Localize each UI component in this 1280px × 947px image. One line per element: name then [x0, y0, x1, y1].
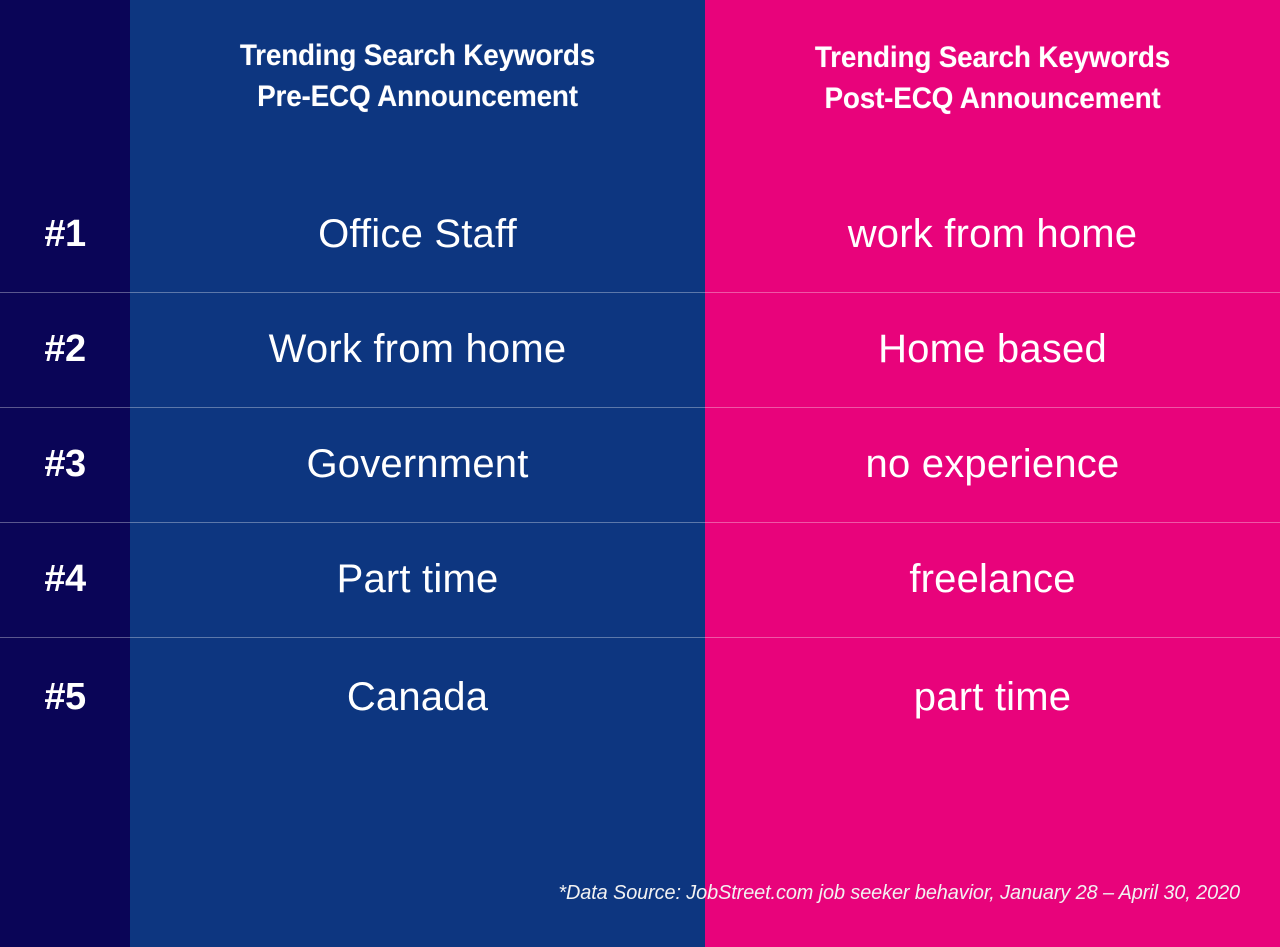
- keyword-table: #1 Office Staff work from home #2 Work f…: [0, 177, 1280, 757]
- post-ecq-keyword: work from home: [705, 177, 1280, 292]
- rank-label: #5: [0, 640, 130, 755]
- post-ecq-header-line-2: Post-ECQ Announcement: [725, 79, 1260, 120]
- post-ecq-column-header: Trending Search Keywords Post-ECQ Announ…: [725, 38, 1260, 120]
- pre-ecq-keyword: Government: [130, 407, 705, 522]
- rank-label: #1: [0, 177, 130, 292]
- rank-label: #3: [0, 407, 130, 522]
- pre-ecq-keyword: Part time: [130, 522, 705, 637]
- post-ecq-keyword: freelance: [705, 522, 1280, 637]
- pre-ecq-keyword: Canada: [130, 640, 705, 755]
- pre-ecq-header-line-1: Trending Search Keywords: [150, 36, 685, 77]
- pre-ecq-keyword: Work from home: [130, 292, 705, 407]
- rank-label: #2: [0, 292, 130, 407]
- post-ecq-keyword: Home based: [705, 292, 1280, 407]
- table-row: #2 Work from home Home based: [0, 292, 1280, 407]
- table-row: #5 Canada part time: [0, 637, 1280, 757]
- post-ecq-keyword: part time: [705, 640, 1280, 755]
- pre-ecq-header-line-2: Pre-ECQ Announcement: [150, 77, 685, 118]
- post-ecq-keyword: no experience: [705, 407, 1280, 522]
- slide-canvas: Trending Search Keywords Pre-ECQ Announc…: [0, 0, 1280, 947]
- table-row: #4 Part time freelance: [0, 522, 1280, 637]
- table-row: #3 Government no experience: [0, 407, 1280, 522]
- pre-ecq-keyword: Office Staff: [130, 177, 705, 292]
- post-ecq-header-line-1: Trending Search Keywords: [725, 38, 1260, 79]
- pre-ecq-column-header: Trending Search Keywords Pre-ECQ Announc…: [150, 36, 685, 118]
- table-row: #1 Office Staff work from home: [0, 177, 1280, 292]
- data-source-footnote: *Data Source: JobStreet.com job seeker b…: [37, 880, 1240, 907]
- rank-label: #4: [0, 522, 130, 637]
